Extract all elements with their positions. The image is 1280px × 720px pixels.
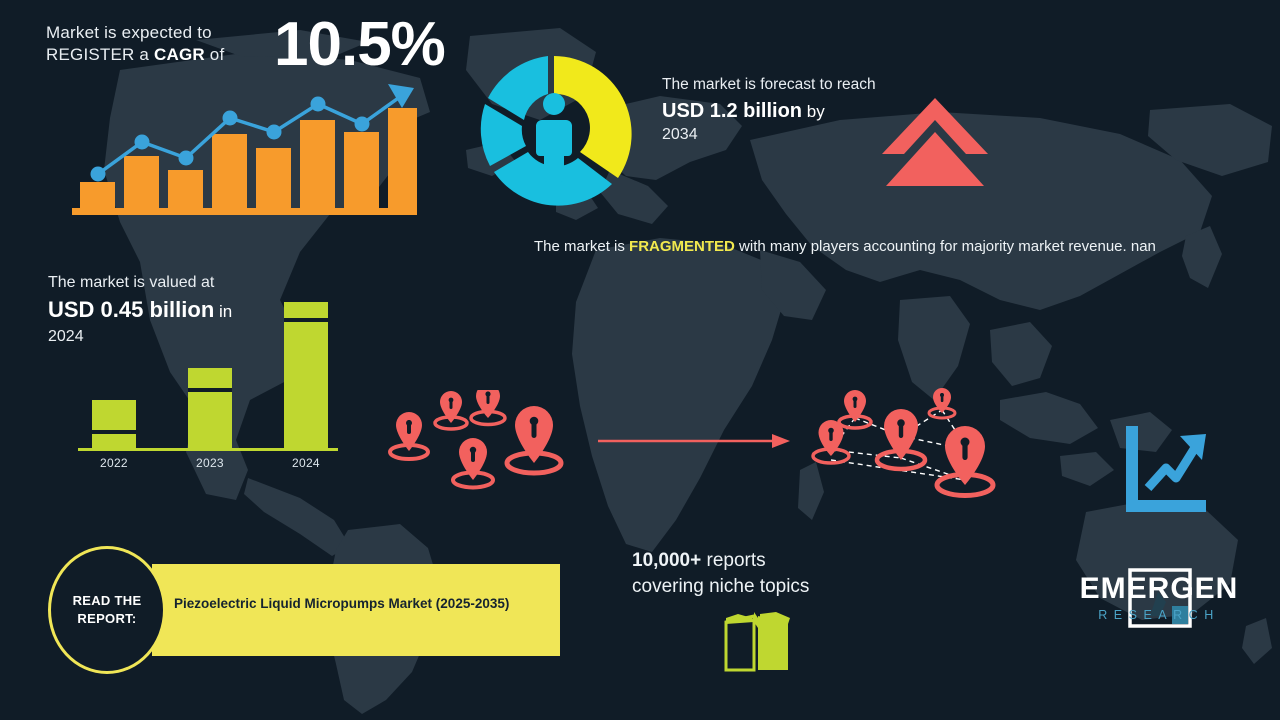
fragmented-keyword: FRAGMENTED [629, 238, 735, 255]
emergen-logo: EMERGEN RESEARCH [1064, 572, 1254, 624]
valuation-bars [92, 302, 328, 448]
cagr-line1: Market is expected to [46, 23, 212, 42]
read-the-report-badge[interactable]: READ THE REPORT: [48, 546, 166, 674]
cagr-block: Market is expected to REGISTER a CAGR of… [46, 22, 446, 66]
read-the-report-label: READ THE REPORT: [51, 592, 163, 628]
valuation-year-label-2023: 2023 [196, 456, 224, 470]
report-banner[interactable]: Piezoelectric Liquid Micropumps Market (… [152, 564, 560, 656]
growth-chart-icon [1122, 424, 1210, 516]
fragmented-pre: The market is [534, 238, 629, 255]
logo-name: EMERGEN [1064, 572, 1254, 606]
cagr-line2-pre: REGISTER a [46, 45, 154, 64]
forecast-block: The market is forecast to reach USD 1.2 … [662, 74, 892, 146]
donut-segment-yellow [554, 56, 632, 178]
map-pin-cluster-icon [384, 390, 574, 495]
donut-segment-cyan-1 [488, 56, 548, 120]
forecast-year: 2034 [662, 124, 892, 146]
valuation-bar-chart [78, 296, 338, 454]
valuation-baseline [78, 448, 338, 451]
valuation-lead: The market is valued at [48, 272, 308, 294]
valuation-year-label-2022: 2022 [100, 456, 128, 470]
infographic-canvas: Market is expected to REGISTER a CAGR of… [0, 0, 1280, 720]
valuation-year-label-2024: 2024 [292, 456, 320, 470]
forecast-by: by [802, 102, 825, 121]
reports-count-block: 10,000+ reports covering niche topics [632, 548, 932, 600]
forecast-lead: The market is forecast to reach [662, 74, 892, 95]
reports-count-value: 10,000+ [632, 550, 701, 571]
cagr-line2-post: of [205, 45, 225, 64]
growth-bar-chart [72, 82, 417, 222]
cagr-caption: Market is expected to REGISTER a CAGR of [46, 22, 246, 66]
report-title: Piezoelectric Liquid Micropumps Market (… [174, 590, 524, 618]
open-book-icon [722, 612, 794, 674]
connected-map-pin-network-icon [805, 388, 1010, 500]
fragmented-statement: The market is FRAGMENTED with many playe… [534, 236, 1214, 258]
growth-icon-line [1148, 446, 1196, 488]
right-arrow-icon [596, 430, 792, 452]
growth-chart-baseline [72, 208, 417, 215]
forecast-amount: USD 1.2 billion [662, 100, 802, 122]
cagr-value: 10.5% [274, 14, 445, 76]
reports-count-suffix: reports [701, 550, 765, 571]
reports-count-line2: covering niche topics [632, 574, 932, 600]
forecast-value-row: USD 1.2 billion by [662, 99, 892, 124]
double-chevron-up-icon [880, 96, 990, 188]
cagr-keyword: CAGR [154, 45, 205, 64]
fragmented-post: with many players accounting for majorit… [735, 238, 1156, 255]
reports-count-line1: 10,000+ reports [632, 548, 932, 574]
logo-subtitle: RESEARCH [1064, 606, 1254, 624]
market-share-donut [468, 48, 640, 220]
